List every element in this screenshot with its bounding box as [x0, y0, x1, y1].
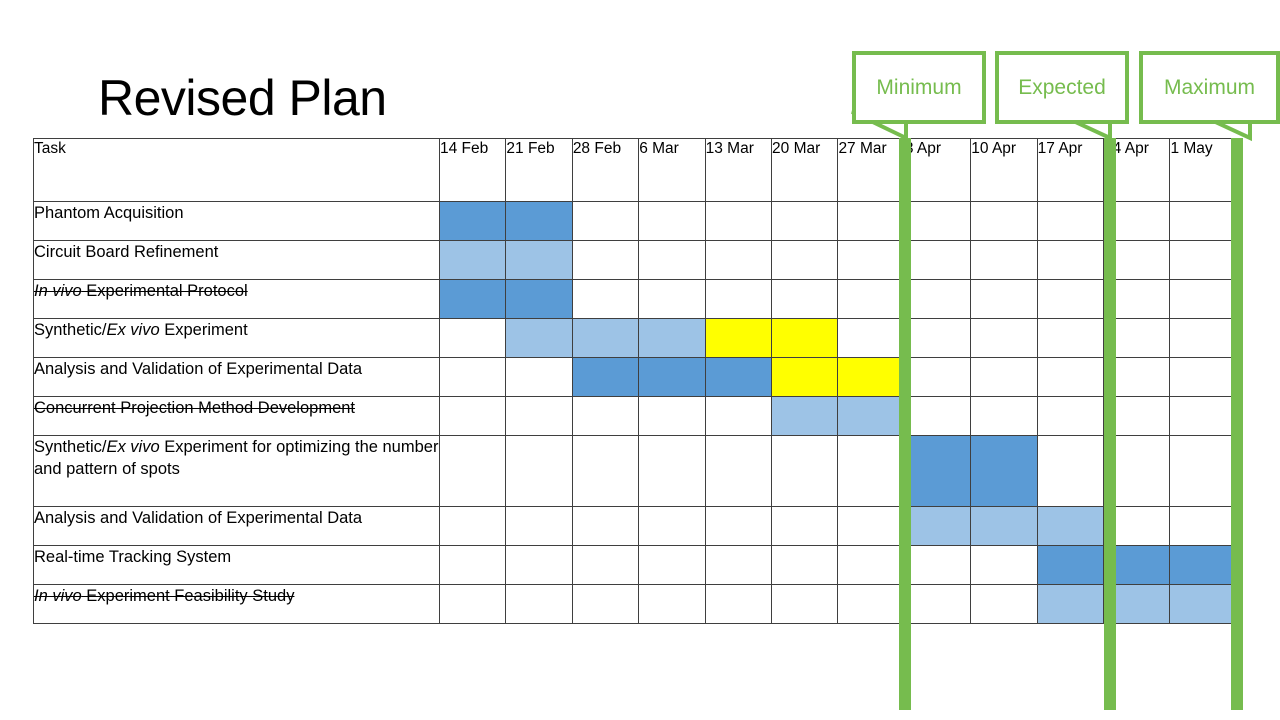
- gantt-cell: [572, 397, 638, 436]
- task-label-rest: Experiment Feasibility Study: [82, 587, 295, 605]
- gantt-cell: [1170, 358, 1237, 397]
- callout-minimum: Minimum: [852, 51, 986, 124]
- column-header-task: Task: [34, 139, 440, 202]
- task-label-part: Synthetic/: [34, 321, 106, 339]
- gantt-cell: [440, 241, 506, 280]
- task-label: Phantom Acquisition: [34, 202, 440, 241]
- column-header-date: 1 May: [1170, 139, 1237, 202]
- table-row: Concurrent Projection Method Development: [34, 397, 1237, 436]
- column-header-date: 3 Apr: [904, 139, 970, 202]
- table-row: Analysis and Validation of Experimental …: [34, 358, 1237, 397]
- gantt-cell: [1037, 585, 1103, 624]
- gantt-cell: [838, 319, 904, 358]
- task-label-italic: Ex vivo: [106, 438, 159, 456]
- callout-label: Expected: [999, 76, 1125, 100]
- gantt-cell: [1037, 280, 1103, 319]
- gantt-cell: [904, 585, 970, 624]
- table-row: Synthetic/Ex vivo Experiment for optimiz…: [34, 436, 1237, 507]
- gantt-cell: [838, 546, 904, 585]
- gantt-cell: [440, 202, 506, 241]
- gantt-cell: [838, 436, 904, 507]
- task-label-part: Experiment: [160, 321, 248, 339]
- gantt-cell: [506, 546, 572, 585]
- gantt-cell: [1037, 319, 1103, 358]
- column-header-date: 21 Feb: [506, 139, 572, 202]
- gantt-cell: [772, 202, 838, 241]
- callout-label: Maximum: [1143, 76, 1276, 100]
- gantt-cell: [705, 397, 771, 436]
- gantt-cell: [838, 202, 904, 241]
- marker-line-maximum: [1231, 138, 1243, 710]
- gantt-cell: [1170, 436, 1237, 507]
- task-label: In vivo Experiment Feasibility Study: [34, 585, 440, 624]
- column-header-date: 13 Mar: [705, 139, 771, 202]
- gantt-cell: [705, 280, 771, 319]
- gantt-cell: [639, 436, 705, 507]
- gantt-cell: [1037, 397, 1103, 436]
- gantt-cell: [506, 397, 572, 436]
- gantt-cell: [572, 546, 638, 585]
- gantt-cell: [506, 241, 572, 280]
- column-header-date: 17 Apr: [1037, 139, 1103, 202]
- gantt-cell: [904, 397, 970, 436]
- gantt-cell: [705, 319, 771, 358]
- gantt-cell: [705, 202, 771, 241]
- callout-maximum: Maximum: [1139, 51, 1280, 124]
- column-header-date: 27 Mar: [838, 139, 904, 202]
- gantt-cell: [838, 507, 904, 546]
- gantt-cell: [639, 585, 705, 624]
- gantt-cell: [639, 319, 705, 358]
- gantt-cell: [1170, 585, 1237, 624]
- gantt-cell: [904, 280, 970, 319]
- gantt-cell: [1170, 280, 1237, 319]
- gantt-cell: [639, 397, 705, 436]
- gantt-cell: [904, 202, 970, 241]
- gantt-cell: [1037, 546, 1103, 585]
- table-row: Synthetic/Ex vivo Experiment: [34, 319, 1237, 358]
- gantt-cell: [705, 436, 771, 507]
- table-row: Analysis and Validation of Experimental …: [34, 507, 1237, 546]
- gantt-cell: [772, 436, 838, 507]
- gantt-cell: [572, 241, 638, 280]
- gantt-cell: [1037, 507, 1103, 546]
- gantt-cell: [838, 585, 904, 624]
- gantt-cell: [705, 585, 771, 624]
- task-label-part: Synthetic/: [34, 438, 106, 456]
- page-title: Revised Plan: [98, 68, 387, 128]
- gantt-cell: [572, 585, 638, 624]
- column-header-date: 10 Apr: [971, 139, 1037, 202]
- gantt-cell: [506, 202, 572, 241]
- task-label: Analysis and Validation of Experimental …: [34, 507, 440, 546]
- gantt-cell: [772, 319, 838, 358]
- gantt-cell: [506, 585, 572, 624]
- task-label-italic: Ex vivo: [106, 321, 159, 339]
- gantt-cell: [440, 585, 506, 624]
- gantt-cell: [904, 546, 970, 585]
- gantt-cell: [772, 241, 838, 280]
- callout-expected: Expected: [995, 51, 1129, 124]
- gantt-cell: [572, 358, 638, 397]
- gantt-cell: [506, 358, 572, 397]
- gantt-cell: [440, 397, 506, 436]
- gantt-cell: [440, 319, 506, 358]
- gantt-cell: [440, 358, 506, 397]
- gantt-cell: [971, 319, 1037, 358]
- gantt-cell: [772, 358, 838, 397]
- gantt-cell: [1170, 546, 1237, 585]
- gantt-cell: [506, 319, 572, 358]
- gantt-cell: [971, 585, 1037, 624]
- gantt-cell: [639, 358, 705, 397]
- table-row: Circuit Board Refinement: [34, 241, 1237, 280]
- gantt-cell: [1037, 436, 1103, 507]
- gantt-cell: [904, 319, 970, 358]
- gantt-cell: [572, 280, 638, 319]
- task-label: In vivo Experimental Protocol: [34, 280, 440, 319]
- marker-line-expected: [1104, 138, 1116, 710]
- task-label: Real-time Tracking System: [34, 546, 440, 585]
- table-header-row: Task 14 Feb 21 Feb 28 Feb 6 Mar 13 Mar 2…: [34, 139, 1237, 202]
- table-row: In vivo Experiment Feasibility Study: [34, 585, 1237, 624]
- gantt-cell: [838, 241, 904, 280]
- gantt-cell: [705, 546, 771, 585]
- column-header-date: 20 Mar: [772, 139, 838, 202]
- table-row: Real-time Tracking System: [34, 546, 1237, 585]
- callout-label: Minimum: [856, 76, 982, 100]
- gantt-cell: [506, 507, 572, 546]
- gantt-cell: [904, 358, 970, 397]
- gantt-cell: [971, 358, 1037, 397]
- gantt-cell: [1037, 241, 1103, 280]
- marker-line-minimum: [899, 138, 911, 710]
- task-label: Concurrent Projection Method Development: [34, 397, 440, 436]
- gantt-cell: [1170, 241, 1237, 280]
- gantt-cell: [904, 436, 970, 507]
- task-label-rest: Experimental Protocol: [82, 282, 248, 300]
- column-header-date: 28 Feb: [572, 139, 638, 202]
- gantt-cell: [1037, 202, 1103, 241]
- gantt-cell: [904, 241, 970, 280]
- gantt-cell: [1170, 397, 1237, 436]
- gantt-cell: [705, 241, 771, 280]
- gantt-cell: [971, 397, 1037, 436]
- gantt-cell: [506, 436, 572, 507]
- gantt-cell: [772, 585, 838, 624]
- gantt-cell: [440, 546, 506, 585]
- gantt-cell: [572, 436, 638, 507]
- table-row: In vivo Experimental Protocol: [34, 280, 1237, 319]
- gantt-cell: [639, 546, 705, 585]
- gantt-cell: [971, 202, 1037, 241]
- gantt-cell: [1170, 507, 1237, 546]
- gantt-cell: [772, 397, 838, 436]
- column-header-date: 14 Feb: [440, 139, 506, 202]
- task-label: Circuit Board Refinement: [34, 241, 440, 280]
- gantt-cell: [971, 241, 1037, 280]
- gantt-cell: [572, 319, 638, 358]
- gantt-cell: [639, 241, 705, 280]
- gantt-cell: [440, 436, 506, 507]
- gantt-cell: [971, 507, 1037, 546]
- task-label: Synthetic/Ex vivo Experiment for optimiz…: [34, 436, 440, 507]
- gantt-cell: [971, 280, 1037, 319]
- gantt-cell: [639, 507, 705, 546]
- gantt-cell: [904, 507, 970, 546]
- gantt-cell: [440, 507, 506, 546]
- task-label-italic: In vivo: [34, 587, 82, 605]
- gantt-cell: [772, 507, 838, 546]
- gantt-cell: [1170, 202, 1237, 241]
- gantt-cell: [1170, 319, 1237, 358]
- task-label: Analysis and Validation of Experimental …: [34, 358, 440, 397]
- task-label: Synthetic/Ex vivo Experiment: [34, 319, 440, 358]
- task-label-italic: In vivo: [34, 282, 82, 300]
- gantt-cell: [838, 358, 904, 397]
- gantt-cell: [506, 280, 572, 319]
- gantt-cell: [772, 280, 838, 319]
- gantt-cell: [838, 397, 904, 436]
- gantt-cell: [440, 280, 506, 319]
- gantt-cell: [971, 436, 1037, 507]
- gantt-cell: [639, 280, 705, 319]
- column-header-date: 6 Mar: [639, 139, 705, 202]
- gantt-cell: [705, 358, 771, 397]
- gantt-chart-table: Task 14 Feb 21 Feb 28 Feb 6 Mar 13 Mar 2…: [33, 138, 1237, 624]
- gantt-cell: [1037, 358, 1103, 397]
- gantt-cell: [572, 507, 638, 546]
- table-row: Phantom Acquisition: [34, 202, 1237, 241]
- gantt-cell: [772, 546, 838, 585]
- gantt-cell: [838, 280, 904, 319]
- gantt-cell: [572, 202, 638, 241]
- gantt-cell: [971, 546, 1037, 585]
- gantt-cell: [639, 202, 705, 241]
- gantt-cell: [705, 507, 771, 546]
